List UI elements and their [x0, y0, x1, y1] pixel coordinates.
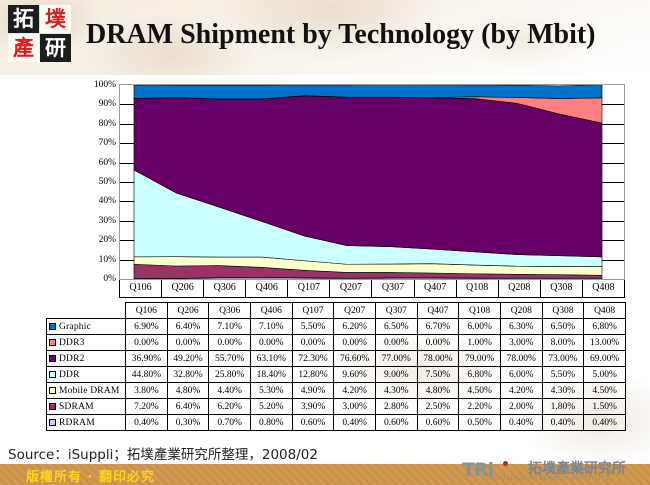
cell-ddr2-Q108: 79.00%: [459, 351, 501, 367]
cell-ddr2-Q406: 63.10%: [251, 351, 293, 367]
x-tick-Q406: Q406: [246, 280, 288, 297]
cell-ddr2-Q307: 77.00%: [375, 351, 417, 367]
table-header-Q107: Q107: [292, 303, 334, 319]
data-table: Q106Q206Q306Q406Q107Q207Q307Q407Q108Q208…: [46, 302, 626, 431]
cell-ddr3-Q407: 0.00%: [417, 335, 459, 351]
cell-rdram-Q107: 0.60%: [292, 415, 334, 431]
x-tick-Q106: Q106: [120, 280, 162, 297]
y-tick-30: 30%: [99, 216, 116, 226]
cell-graphic-Q308: 6.50%: [542, 319, 584, 335]
cell-mobile-dram-Q406: 5.30%: [251, 383, 293, 399]
cell-ddr3-Q408: 13.00%: [584, 335, 626, 351]
legend-swatch-icon: [49, 371, 56, 378]
cell-mobile-dram-Q308: 4.30%: [542, 383, 584, 399]
cell-ddr2-Q208: 78.00%: [500, 351, 542, 367]
cell-graphic-Q206: 6.40%: [167, 319, 209, 335]
legend-swatch-icon: [49, 323, 56, 330]
cell-sdram-Q207: 3.00%: [334, 399, 376, 415]
x-tick-Q408: Q408: [583, 280, 624, 297]
legend-item-sdram: SDRAM: [47, 399, 126, 415]
table-header-Q308: Q308: [542, 303, 584, 319]
cell-mobile-dram-Q307: 4.30%: [375, 383, 417, 399]
cell-mobile-dram-Q208: 4.20%: [500, 383, 542, 399]
cell-ddr2-Q107: 72.30%: [292, 351, 334, 367]
table-row: DDR30.00%0.00%0.00%0.00%0.00%0.00%0.00%0…: [47, 335, 626, 351]
y-axis-tick-labels: 0%10%20%30%40%50%60%70%80%90%100%: [86, 84, 118, 280]
area-series-group: [120, 85, 624, 279]
area-graphic: [134, 85, 602, 99]
y-tick-40: 40%: [99, 196, 116, 206]
source-note: Source：iSuppli；拓墣產業研究所整理，2008/02: [8, 443, 318, 463]
cell-graphic-Q406: 7.10%: [251, 319, 293, 335]
table-row: DDR44.80%32.80%25.80%18.40%12.80%9.60%9.…: [47, 367, 626, 383]
legend-label: DDR: [59, 370, 80, 380]
x-tick-Q207: Q207: [330, 280, 372, 297]
legend-item-mobile-dram: Mobile DRAM: [47, 383, 126, 399]
cell-ddr2-Q308: 73.00%: [542, 351, 584, 367]
table-header-Q408: Q408: [584, 303, 626, 319]
cell-sdram-Q206: 6.40%: [167, 399, 209, 415]
x-tick-Q407: Q407: [415, 280, 457, 297]
cell-rdram-Q206: 0.30%: [167, 415, 209, 431]
y-tick-100: 100%: [94, 80, 116, 90]
cell-sdram-Q307: 2.80%: [375, 399, 417, 415]
cell-ddr-Q208: 6.00%: [500, 367, 542, 383]
cell-mobile-dram-Q408: 4.50%: [584, 383, 626, 399]
legend-swatch-icon: [49, 339, 56, 346]
x-tick-Q308: Q308: [541, 280, 583, 297]
legend-item-ddr3: DDR3: [47, 335, 126, 351]
logo-char-2: 墣: [40, 5, 71, 33]
cell-rdram-Q307: 0.60%: [375, 415, 417, 431]
cell-sdram-Q107: 3.90%: [292, 399, 334, 415]
legend-label: Mobile DRAM: [59, 386, 120, 396]
cell-mobile-dram-Q106: 3.80%: [126, 383, 168, 399]
y-tick-0: 0%: [103, 274, 116, 284]
cell-graphic-Q107: 5.50%: [292, 319, 334, 335]
table-row: Graphic6.90%6.40%7.10%7.10%5.50%6.20%6.5…: [47, 319, 626, 335]
legend-swatch-icon: [49, 387, 56, 394]
cell-rdram-Q208: 0.40%: [500, 415, 542, 431]
cell-sdram-Q308: 1.80%: [542, 399, 584, 415]
table-header-row: Q106Q206Q306Q406Q107Q207Q307Q407Q108Q208…: [47, 303, 626, 319]
cell-rdram-Q406: 0.80%: [251, 415, 293, 431]
cell-graphic-Q407: 6.70%: [417, 319, 459, 335]
y-tick-20: 20%: [99, 235, 116, 245]
cell-ddr2-Q206: 49.20%: [167, 351, 209, 367]
table-header-Q206: Q206: [167, 303, 209, 319]
legend-swatch-icon: [49, 355, 56, 362]
cell-rdram-Q408: 0.40%: [584, 415, 626, 431]
cell-ddr2-Q207: 76.60%: [334, 351, 376, 367]
cell-sdram-Q106: 7.20%: [126, 399, 168, 415]
tri-logo-dot-icon: [503, 461, 508, 466]
cell-ddr3-Q406: 0.00%: [251, 335, 293, 351]
plot-area: [119, 84, 625, 280]
cell-sdram-Q306: 6.20%: [209, 399, 251, 415]
cell-ddr2-Q408: 69.00%: [584, 351, 626, 367]
cell-rdram-Q106: 0.40%: [126, 415, 168, 431]
legend-item-rdram: RDRAM: [47, 415, 126, 431]
x-tick-Q306: Q306: [204, 280, 246, 297]
cell-ddr-Q407: 7.50%: [417, 367, 459, 383]
cell-sdram-Q408: 1.50%: [584, 399, 626, 415]
page-title: DRAM Shipment by Technology (by Mbit): [86, 12, 642, 58]
cell-graphic-Q408: 6.80%: [584, 319, 626, 335]
x-tick-Q107: Q107: [288, 280, 330, 297]
logo-char-3: 產: [8, 34, 39, 62]
cell-graphic-Q207: 6.20%: [334, 319, 376, 335]
cell-ddr-Q306: 25.80%: [209, 367, 251, 383]
table-row: DDR236.90%49.20%55.70%63.10%72.30%76.60%…: [47, 351, 626, 367]
table-header-Q106: Q106: [126, 303, 168, 319]
cell-rdram-Q407: 0.60%: [417, 415, 459, 431]
legend-swatch-icon: [49, 403, 56, 410]
cell-ddr-Q307: 9.00%: [375, 367, 417, 383]
cell-graphic-Q307: 6.50%: [375, 319, 417, 335]
cell-ddr-Q206: 32.80%: [167, 367, 209, 383]
cell-graphic-Q208: 6.30%: [500, 319, 542, 335]
cell-sdram-Q108: 2.20%: [459, 399, 501, 415]
table-header-Q208: Q208: [500, 303, 542, 319]
cell-ddr3-Q208: 3.00%: [500, 335, 542, 351]
cell-ddr2-Q407: 78.00%: [417, 351, 459, 367]
cell-rdram-Q306: 0.70%: [209, 415, 251, 431]
cell-mobile-dram-Q108: 4.50%: [459, 383, 501, 399]
table-header-Q207: Q207: [334, 303, 376, 319]
cell-ddr3-Q108: 1.00%: [459, 335, 501, 351]
table-header-Q108: Q108: [459, 303, 501, 319]
cell-mobile-dram-Q207: 4.20%: [334, 383, 376, 399]
tri-logo-english-name: TOPOLOGY RESEARCH INSTITUTE: [486, 474, 610, 482]
table-row: Mobile DRAM3.80%4.80%4.40%5.30%4.90%4.20…: [47, 383, 626, 399]
y-tick-10: 10%: [99, 255, 116, 265]
cell-ddr-Q408: 5.00%: [584, 367, 626, 383]
x-tick-Q206: Q206: [162, 280, 204, 297]
legend-item-ddr: DDR: [47, 367, 126, 383]
cell-ddr3-Q307: 0.00%: [375, 335, 417, 351]
cell-sdram-Q407: 2.50%: [417, 399, 459, 415]
table-row: SDRAM7.20%6.40%6.20%5.20%3.90%3.00%2.80%…: [47, 399, 626, 415]
cell-ddr-Q108: 6.80%: [459, 367, 501, 383]
cell-sdram-Q208: 2.00%: [500, 399, 542, 415]
logo-char-4: 研: [40, 34, 71, 62]
cell-ddr3-Q106: 0.00%: [126, 335, 168, 351]
y-tick-80: 80%: [99, 119, 116, 129]
cell-graphic-Q106: 6.90%: [126, 319, 168, 335]
cell-rdram-Q108: 0.50%: [459, 415, 501, 431]
cell-ddr-Q308: 5.50%: [542, 367, 584, 383]
cell-mobile-dram-Q407: 4.80%: [417, 383, 459, 399]
table-header-Q407: Q407: [417, 303, 459, 319]
cell-ddr3-Q306: 0.00%: [209, 335, 251, 351]
y-tick-60: 60%: [99, 158, 116, 168]
copyright-text: 版權所有 · 翻印必究: [26, 466, 155, 485]
cell-mobile-dram-Q206: 4.80%: [167, 383, 209, 399]
cell-ddr-Q107: 12.80%: [292, 367, 334, 383]
cell-rdram-Q308: 0.40%: [542, 415, 584, 431]
cell-ddr-Q406: 18.40%: [251, 367, 293, 383]
logo-char-1: 拓: [8, 5, 39, 33]
legend-label: DDR2: [59, 354, 85, 364]
table-header-Q307: Q307: [375, 303, 417, 319]
cell-rdram-Q207: 0.40%: [334, 415, 376, 431]
cell-ddr3-Q308: 8.00%: [542, 335, 584, 351]
legend-item-graphic: Graphic: [47, 319, 126, 335]
y-tick-70: 70%: [99, 138, 116, 148]
cell-ddr3-Q206: 0.00%: [167, 335, 209, 351]
cell-graphic-Q306: 7.10%: [209, 319, 251, 335]
cell-ddr-Q106: 44.80%: [126, 367, 168, 383]
table-body: Graphic6.90%6.40%7.10%7.10%5.50%6.20%6.5…: [47, 319, 626, 431]
tri-corporate-logo: TRi 拓墣產業研究所 TOPOLOGY RESEARCH INSTITUTE: [462, 458, 642, 484]
cell-sdram-Q406: 5.20%: [251, 399, 293, 415]
cell-ddr2-Q106: 36.90%: [126, 351, 168, 367]
cell-ddr3-Q107: 0.00%: [292, 335, 334, 351]
table-header-Q306: Q306: [209, 303, 251, 319]
legend-label: RDRAM: [59, 418, 95, 428]
cell-graphic-Q108: 6.00%: [459, 319, 501, 335]
x-tick-Q307: Q307: [372, 280, 414, 297]
x-tick-Q108: Q108: [457, 280, 499, 297]
cell-mobile-dram-Q107: 4.90%: [292, 383, 334, 399]
legend-label: Graphic: [59, 322, 91, 332]
x-tick-Q208: Q208: [499, 280, 541, 297]
legend-label: SDRAM: [59, 402, 94, 412]
tri-seal-logo: 拓 墣 產 研: [8, 5, 72, 63]
y-tick-50: 50%: [99, 177, 116, 187]
cell-mobile-dram-Q306: 4.40%: [209, 383, 251, 399]
table-corner-cell: [47, 303, 126, 319]
cell-ddr3-Q207: 0.00%: [334, 335, 376, 351]
slide-canvas: 拓 墣 產 研 DRAM Shipment by Technology (by …: [0, 0, 650, 485]
x-axis-category-labels: Q106Q206Q306Q406Q107Q207Q307Q407Q108Q208…: [119, 280, 625, 298]
legend-swatch-icon: [49, 419, 56, 426]
table-row: RDRAM0.40%0.30%0.70%0.80%0.60%0.40%0.60%…: [47, 415, 626, 431]
table-header-Q406: Q406: [251, 303, 293, 319]
cell-ddr2-Q306: 55.70%: [209, 351, 251, 367]
y-tick-90: 90%: [99, 99, 116, 109]
legend-item-ddr2: DDR2: [47, 351, 126, 367]
cell-ddr-Q207: 9.60%: [334, 367, 376, 383]
stacked-area-chart: 0%10%20%30%40%50%60%70%80%90%100% Q106Q2…: [86, 84, 626, 298]
legend-label: DDR3: [59, 338, 85, 348]
